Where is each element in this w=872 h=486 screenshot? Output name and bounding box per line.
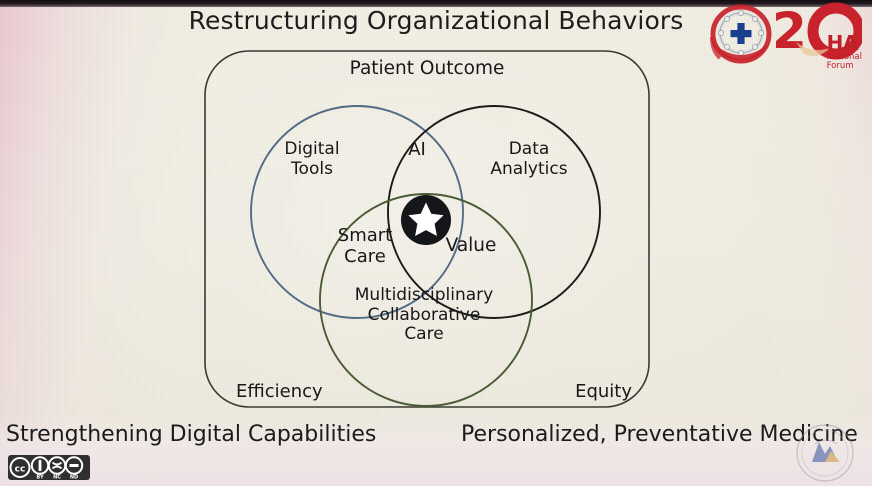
organization-seal-icon	[794, 422, 856, 484]
blue-cross-icon	[731, 23, 752, 44]
svg-text:BY: BY	[36, 475, 44, 481]
slide-photo: Restructuring Organizational Behaviors	[0, 0, 872, 486]
ministry-emblem-icon	[708, 4, 774, 66]
svg-text:cc: cc	[15, 465, 26, 475]
star-badge-icon	[401, 195, 451, 245]
caption-strengthening-digital-capabilities: Strengthening Digital Capabilities	[6, 422, 376, 447]
creative-commons-badge-icon: cc BY NC ND	[7, 453, 91, 482]
venn-diagram: Patient Outcome Digital Tools AI Data An…	[202, 48, 652, 410]
svg-text:NC: NC	[53, 475, 61, 481]
forum-label: Forum	[827, 62, 862, 71]
ha-forum-wordmark: HA National Forum	[827, 33, 862, 70]
venn-diagram-graphic	[202, 48, 652, 410]
svg-text:2: 2	[772, 2, 807, 60]
forum-logo-cluster: 2 HA National Forum	[690, 2, 866, 70]
svg-text:ND: ND	[70, 475, 78, 481]
